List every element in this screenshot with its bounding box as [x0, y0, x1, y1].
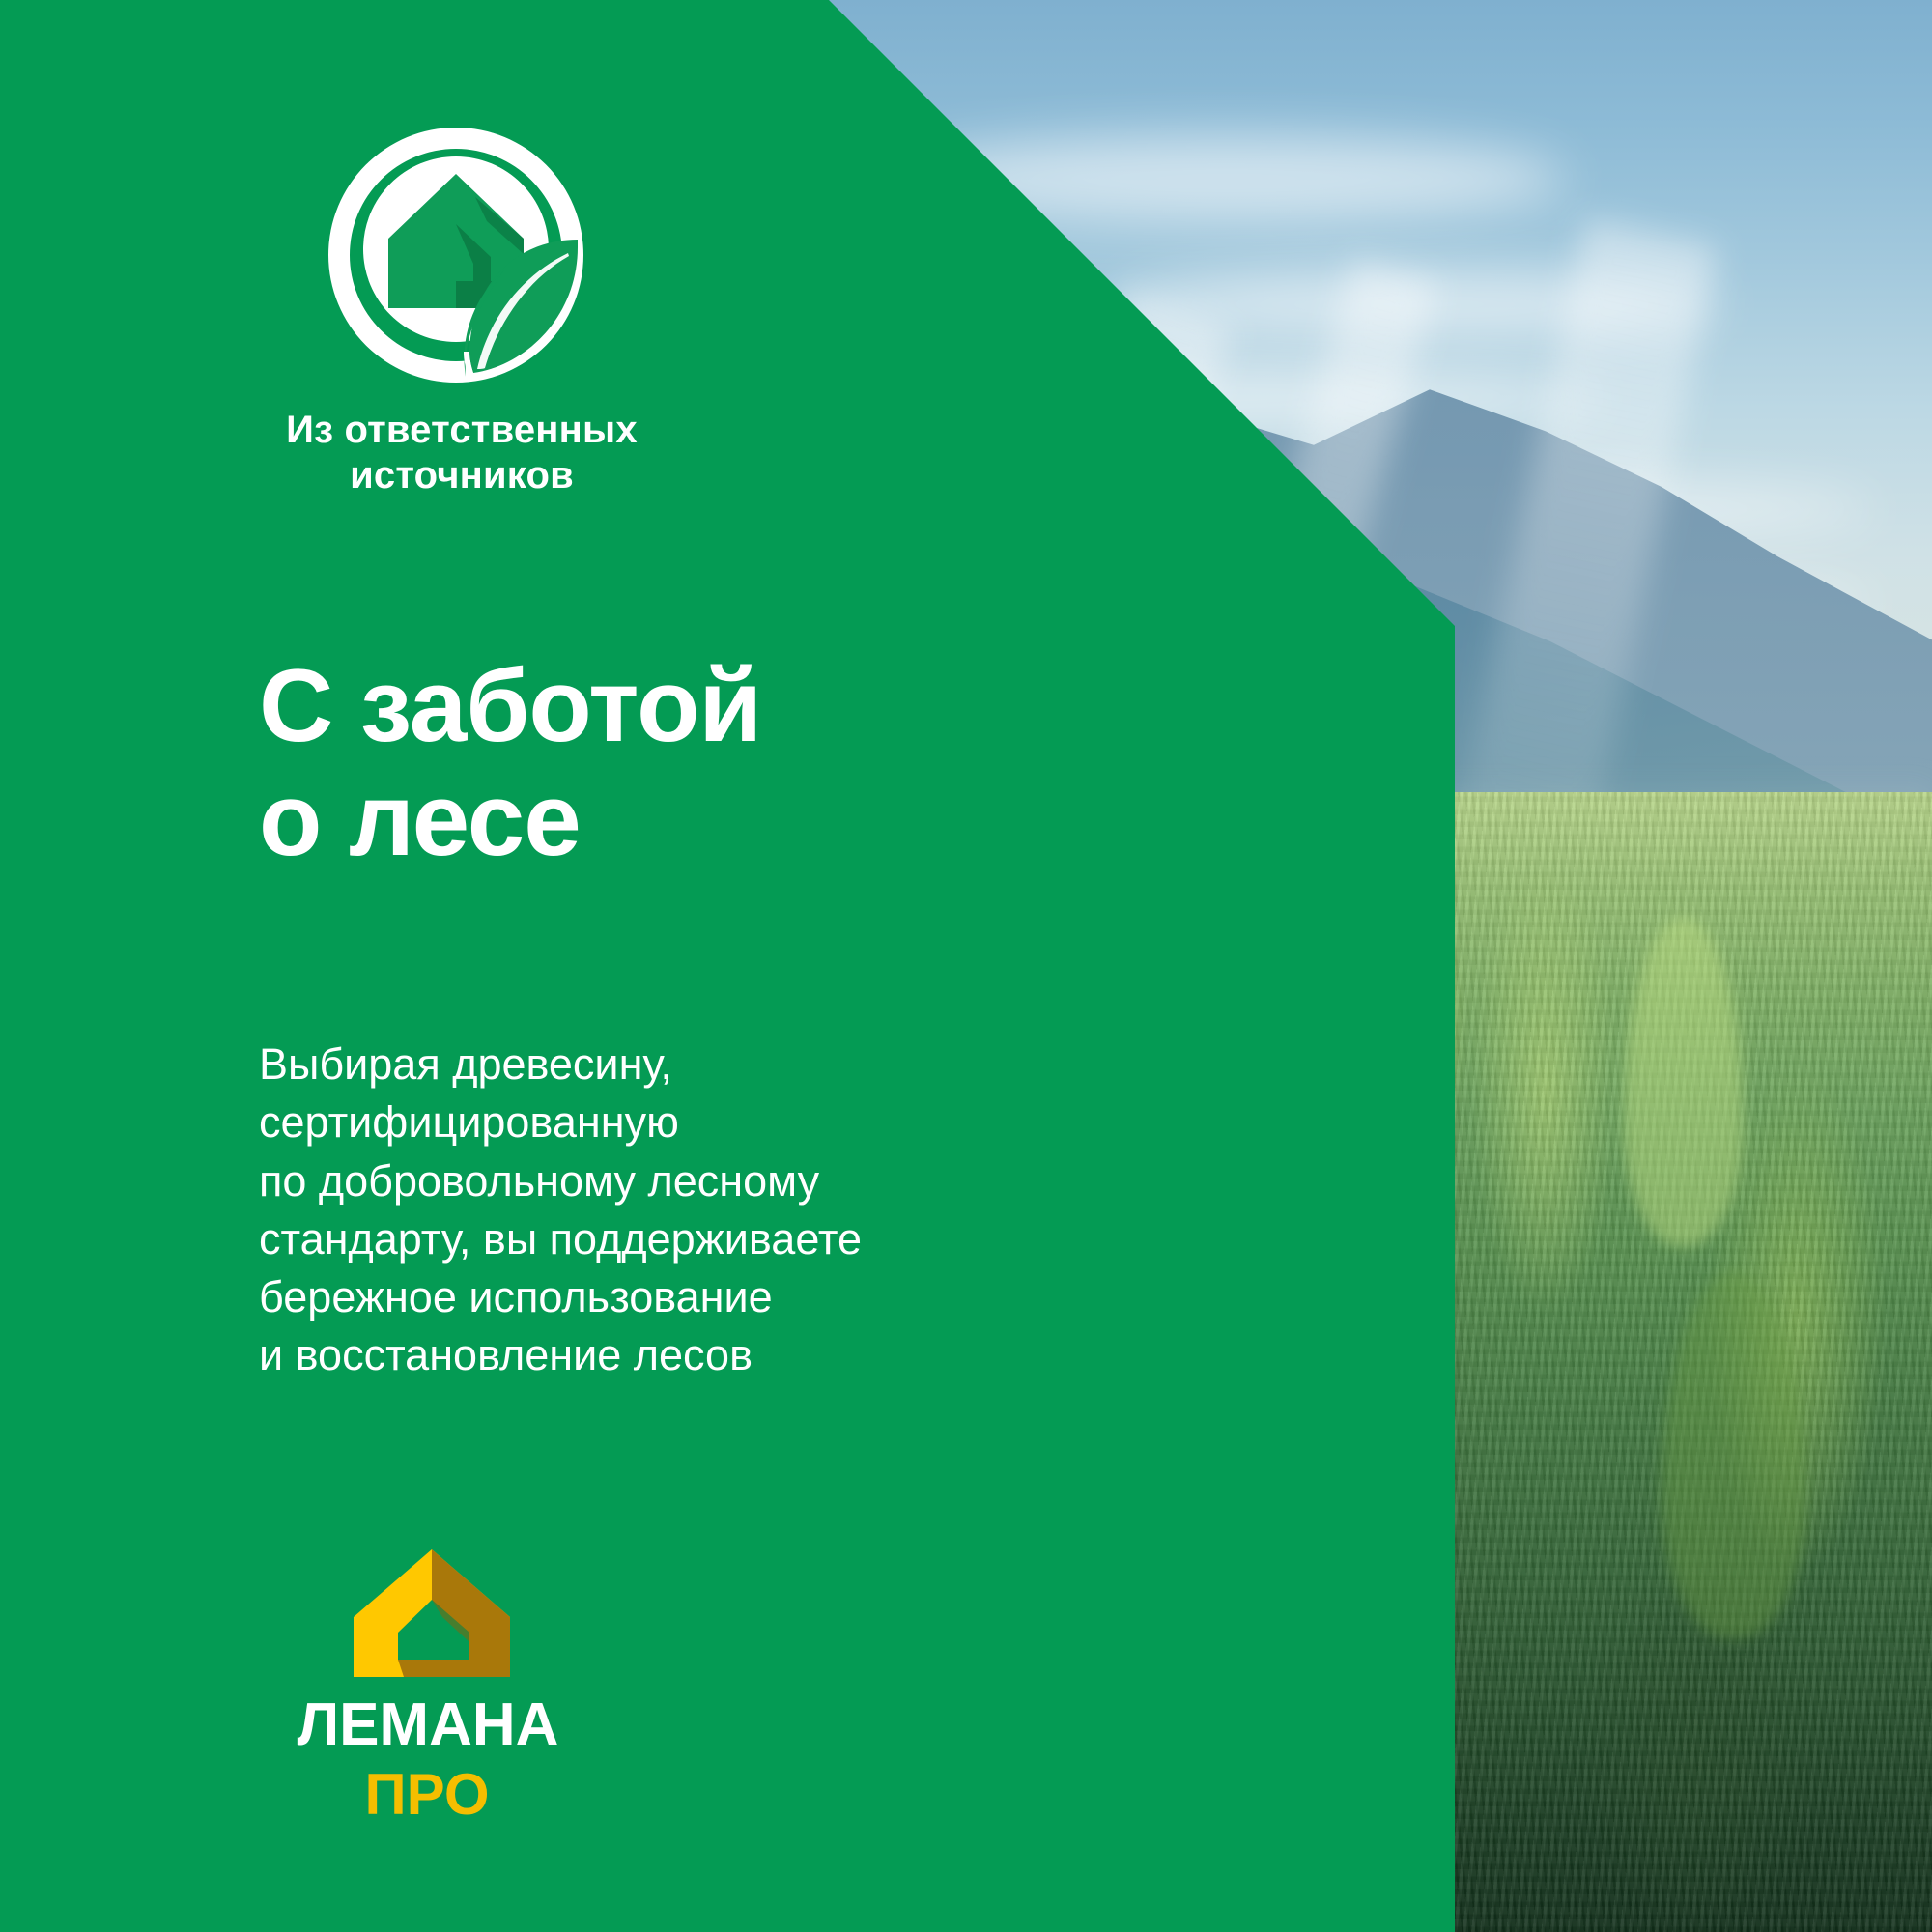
lemana-pro-house-logo-icon	[350, 1546, 514, 1681]
page-title: С заботой о лесе	[259, 649, 761, 876]
certification-badge: Из ответственных источников	[259, 124, 800, 498]
poster-root: Из ответственных источников С заботой о …	[0, 0, 1932, 1932]
brand-sub-pro: ПРО	[330, 1764, 524, 1824]
brand-sub-text: ПРО	[364, 1764, 489, 1824]
body-paragraph: Выбирая древесину, сертифицированную по …	[259, 1036, 862, 1385]
brand-name-lemana: ЛЕМАНА	[259, 1692, 597, 1754]
brand-lockup: ЛЕМАНА ПРО	[259, 1546, 616, 1824]
brand-name-text: ЛЕМАНА	[298, 1692, 559, 1754]
poster-content: Из ответственных источников С заботой о …	[0, 0, 1932, 1932]
responsible-sourcing-house-leaf-mark	[325, 124, 587, 386]
certification-caption: Из ответственных источников	[259, 408, 665, 498]
